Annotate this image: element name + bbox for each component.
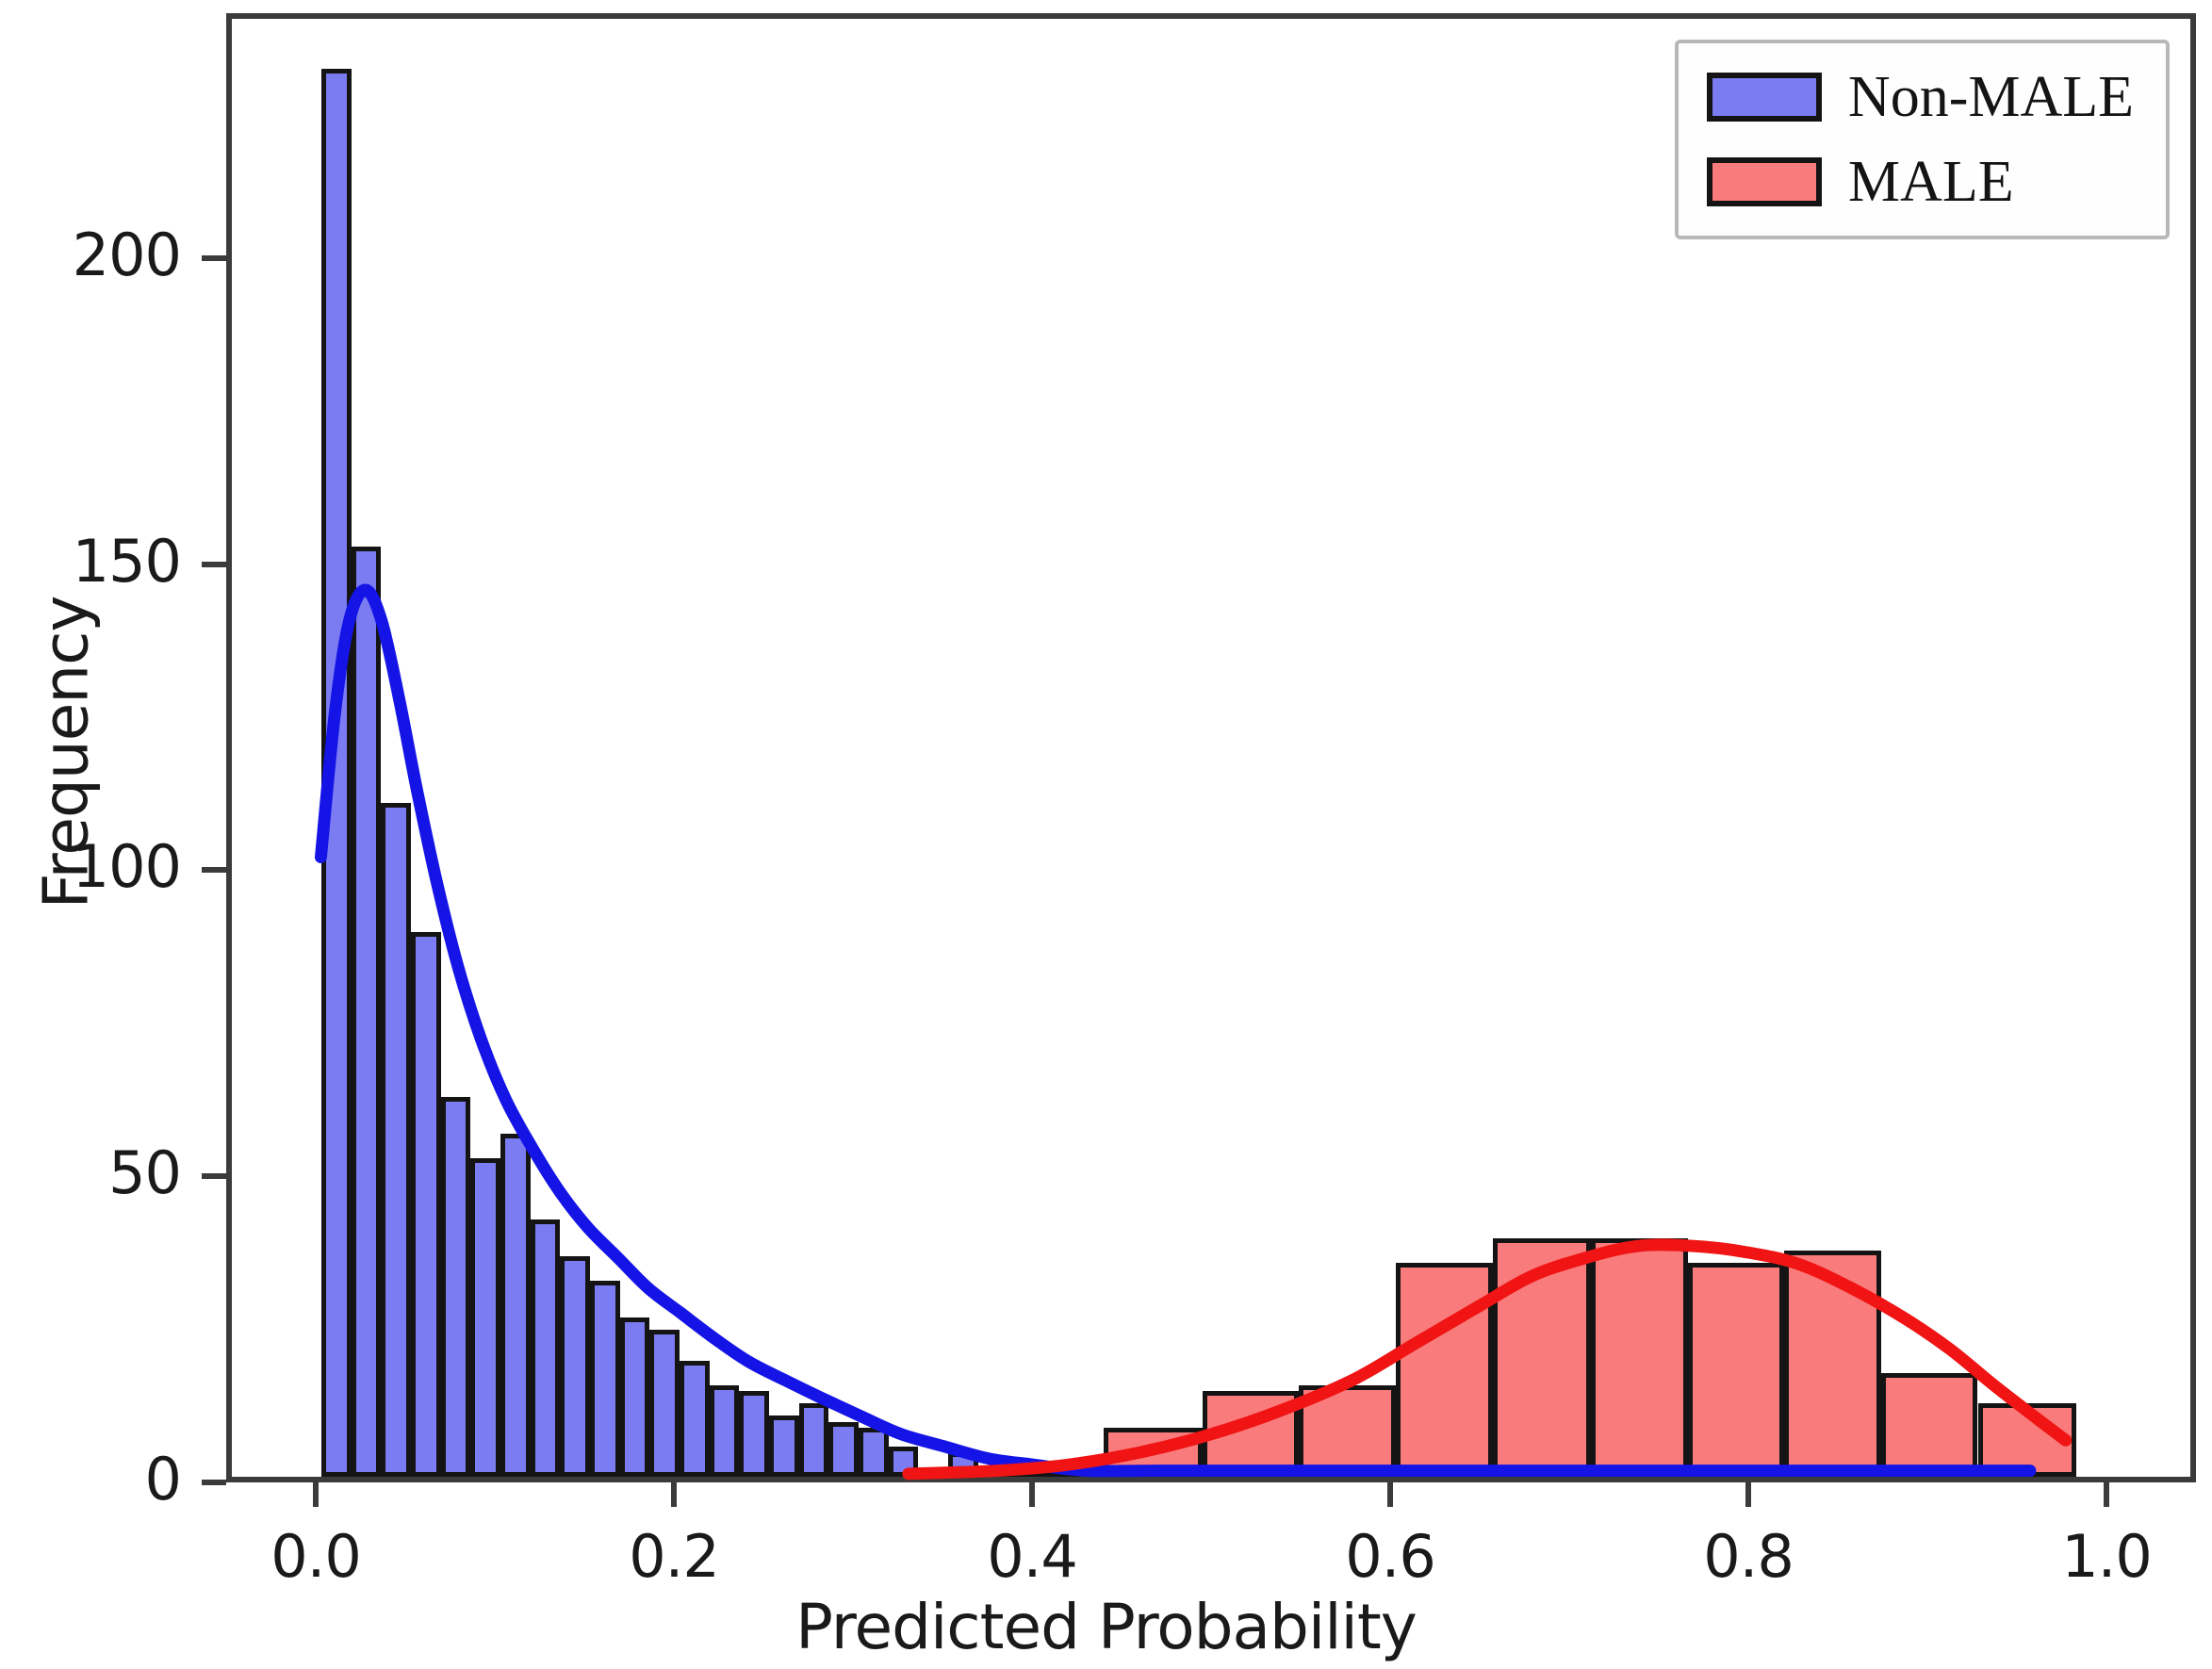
- y-tick-mark: [202, 867, 226, 873]
- histogram-bar: [620, 1317, 648, 1477]
- histogram-bar: [710, 1385, 738, 1477]
- chart-figure: Frequency 050100150200 Non-MALE MALE 0.0…: [0, 0, 2212, 1669]
- histogram-bar: [560, 1256, 590, 1477]
- histogram-bar: [799, 1403, 827, 1477]
- legend-label-male: MALE: [1848, 153, 2014, 211]
- legend-swatch-male: [1707, 157, 1822, 206]
- histogram-bar: [1104, 1428, 1203, 1477]
- histogram-bar: [1008, 1467, 1038, 1477]
- x-tick-mark: [1745, 1482, 1751, 1507]
- histogram-bar: [948, 1452, 978, 1477]
- histogram-bar: [1978, 1403, 2077, 1477]
- x-tick-mark: [1387, 1482, 1393, 1507]
- x-tick-label: 0.8: [1616, 1522, 1880, 1591]
- histogram-bar: [918, 1467, 948, 1477]
- y-tick-label: 100: [0, 832, 181, 901]
- y-tick-mark: [202, 255, 226, 261]
- histogram-bar: [769, 1415, 799, 1477]
- histogram-bar: [1203, 1391, 1300, 1477]
- histogram-bar: [321, 69, 352, 1477]
- histogram-bar: [1688, 1263, 1785, 1477]
- histogram-bar: [1591, 1238, 1688, 1477]
- histogram-bar: [889, 1447, 917, 1477]
- legend-item-male: MALE: [1707, 153, 2134, 211]
- histogram-bar: [739, 1391, 769, 1477]
- y-tick-mark: [202, 1173, 226, 1179]
- histogram-bar: [590, 1281, 620, 1477]
- histogram-bar: [1881, 1373, 1978, 1477]
- histogram-bar: [500, 1134, 531, 1477]
- y-tick-label: 0: [0, 1445, 181, 1514]
- x-tick-label: 1.0: [1974, 1522, 2212, 1591]
- histogram-bar: [978, 1467, 1007, 1477]
- y-tick-label: 200: [0, 221, 181, 289]
- x-axis-title: Predicted Probability: [0, 1591, 2212, 1663]
- y-tick-mark: [202, 1480, 226, 1485]
- y-tick-label: 150: [0, 527, 181, 596]
- x-tick-label: 0.6: [1258, 1522, 1522, 1591]
- histogram-bar: [1068, 1464, 1096, 1477]
- histogram-bar: [859, 1428, 889, 1477]
- legend-swatch-non-male: [1707, 73, 1822, 122]
- x-tick-mark: [671, 1482, 677, 1507]
- plot-frame: Non-MALE MALE: [226, 13, 2196, 1482]
- x-tick-mark: [2104, 1482, 2109, 1507]
- histogram-bar: [649, 1330, 680, 1477]
- legend-label-non-male: Non-MALE: [1848, 68, 2134, 126]
- histogram-bar: [1784, 1251, 1881, 1477]
- histogram-bar: [531, 1219, 559, 1477]
- y-tick-mark: [202, 562, 226, 567]
- histogram-bar: [1299, 1385, 1396, 1477]
- histogram-bar: [411, 932, 441, 1477]
- x-tick-mark: [1029, 1482, 1035, 1507]
- legend-item-non-male: Non-MALE: [1707, 68, 2134, 126]
- x-tick-label: 0.4: [900, 1522, 1164, 1591]
- histogram-bar: [1493, 1238, 1592, 1477]
- histogram-bar: [352, 547, 380, 1477]
- histogram-bar: [441, 1097, 469, 1477]
- legend: Non-MALE MALE: [1675, 40, 2170, 239]
- y-axis-title: Frequency: [30, 376, 103, 1130]
- y-tick-label: 50: [0, 1138, 181, 1207]
- histogram-bar: [828, 1422, 859, 1477]
- histogram-bar: [680, 1361, 710, 1477]
- histogram-bar: [1038, 1464, 1068, 1477]
- histogram-bar: [470, 1158, 500, 1477]
- histogram-bar: [381, 803, 411, 1477]
- x-tick-mark: [313, 1482, 319, 1507]
- x-tick-label: 0.0: [184, 1522, 448, 1591]
- histogram-bar: [1396, 1263, 1493, 1477]
- x-tick-label: 0.2: [542, 1522, 806, 1591]
